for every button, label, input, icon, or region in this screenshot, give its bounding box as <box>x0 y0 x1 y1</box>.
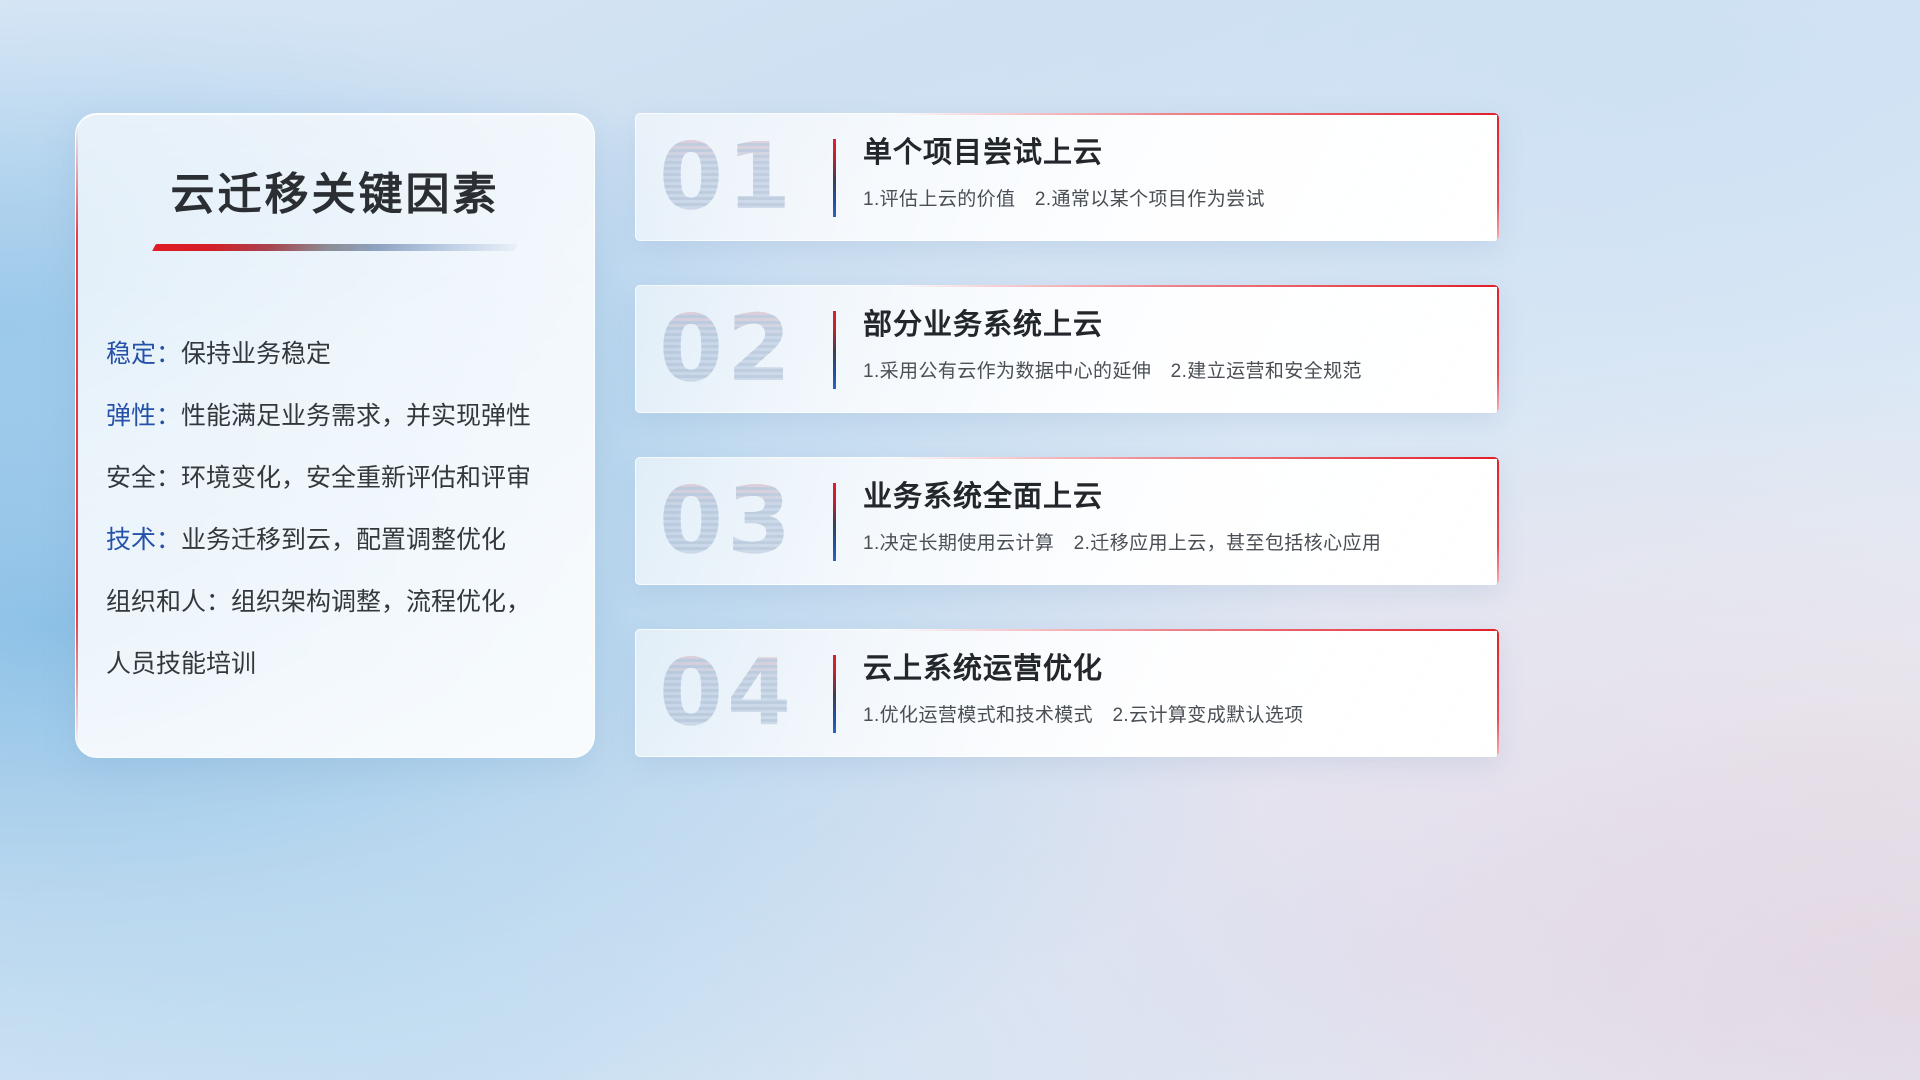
key-factor-value: 组织架构调整，流程优化， <box>231 588 531 616</box>
step-subtitle: 1.决定长期使用云计算 2.迁移应用上云，甚至包括核心应用 <box>863 528 1469 555</box>
key-factor-item: 稳定：保持业务稳定 <box>106 323 576 385</box>
step-divider-bar <box>833 311 836 389</box>
migration-steps-list: 01单个项目尝试上云1.评估上云的价值 2.通常以某个项目作为尝试02部分业务系… <box>635 113 1499 801</box>
key-factor-value: 保持业务稳定 <box>181 340 331 368</box>
key-factor-value: 性能满足业务需求，并实现弹性 <box>181 402 531 430</box>
key-factors-panel: 云迁移关键因素 稳定：保持业务稳定弹性：性能满足业务需求，并实现弹性安全：环境变… <box>75 113 595 758</box>
key-factor-value: 业务迁移到云，配置调整优化 <box>181 526 506 554</box>
step-subtitle: 1.采用公有云作为数据中心的延伸 2.建立运营和安全规范 <box>863 356 1469 383</box>
step-number: 02 <box>659 303 795 395</box>
key-factor-item: 弹性：性能满足业务需求，并实现弹性 <box>106 385 576 447</box>
key-factor-label: 稳定： <box>106 340 181 368</box>
key-factor-item: 技术：业务迁移到云，配置调整优化 <box>106 509 576 571</box>
step-title: 部分业务系统上云 <box>863 307 1469 344</box>
step-divider-bar <box>833 483 836 561</box>
page-title: 云迁移关键因素 <box>76 158 594 222</box>
key-factor-label: 组织和人： <box>106 588 231 616</box>
key-factor-item: 人员技能培训 <box>106 633 576 695</box>
step-divider-bar <box>833 139 836 217</box>
key-factor-value: 环境变化，安全重新评估和评审 <box>181 464 531 492</box>
step-title: 云上系统运营优化 <box>863 651 1469 688</box>
step-number: 04 <box>659 647 795 739</box>
step-subtitle: 1.优化运营模式和技术模式 2.云计算变成默认选项 <box>863 700 1469 727</box>
step-body: 业务系统全面上云1.决定长期使用云计算 2.迁移应用上云，甚至包括核心应用 <box>863 479 1469 555</box>
key-factor-value: 人员技能培训 <box>106 650 256 678</box>
key-factor-label: 弹性： <box>106 402 181 430</box>
slide-root: 云迁移关键因素 稳定：保持业务稳定弹性：性能满足业务需求，并实现弹性安全：环境变… <box>0 0 1920 1080</box>
step-divider-bar <box>833 655 836 733</box>
step-card[interactable]: 02部分业务系统上云1.采用公有云作为数据中心的延伸 2.建立运营和安全规范 <box>635 285 1499 413</box>
step-body: 云上系统运营优化1.优化运营模式和技术模式 2.云计算变成默认选项 <box>863 651 1469 727</box>
key-factor-item: 组织和人：组织架构调整，流程优化， <box>106 571 576 633</box>
step-card[interactable]: 04云上系统运营优化1.优化运营模式和技术模式 2.云计算变成默认选项 <box>635 629 1499 757</box>
step-body: 单个项目尝试上云1.评估上云的价值 2.通常以某个项目作为尝试 <box>863 135 1469 211</box>
key-factor-label: 安全： <box>106 464 181 492</box>
step-subtitle: 1.评估上云的价值 2.通常以某个项目作为尝试 <box>863 184 1469 211</box>
key-factors-list: 稳定：保持业务稳定弹性：性能满足业务需求，并实现弹性安全：环境变化，安全重新评估… <box>106 323 594 695</box>
step-body: 部分业务系统上云1.采用公有云作为数据中心的延伸 2.建立运营和安全规范 <box>863 307 1469 383</box>
step-card[interactable]: 01单个项目尝试上云1.评估上云的价值 2.通常以某个项目作为尝试 <box>635 113 1499 241</box>
step-title: 单个项目尝试上云 <box>863 135 1469 172</box>
key-factor-label: 技术： <box>106 526 181 554</box>
step-title: 业务系统全面上云 <box>863 479 1469 516</box>
title-underline-rule <box>152 244 518 251</box>
step-card[interactable]: 03业务系统全面上云1.决定长期使用云计算 2.迁移应用上云，甚至包括核心应用 <box>635 457 1499 585</box>
step-number: 01 <box>659 131 795 223</box>
key-factor-item: 安全：环境变化，安全重新评估和评审 <box>106 447 576 509</box>
step-number: 03 <box>659 475 795 567</box>
